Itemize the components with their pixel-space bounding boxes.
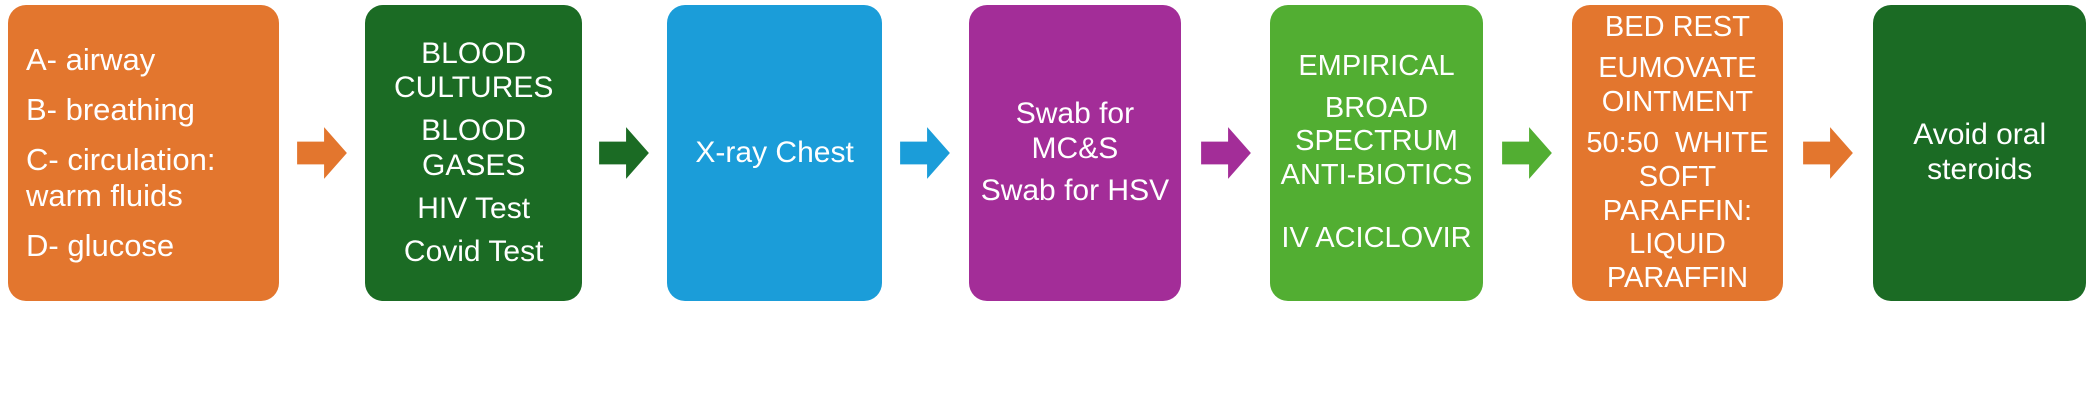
flow-arrow-right-icon	[296, 125, 348, 181]
flow-node-empirical-treatment[interactable]: EMPIRICAL BROAD SPECTRUM ANTI-BIOTICS IV…	[1270, 5, 1483, 301]
node-line: D- glucose	[26, 228, 269, 264]
node-line: SPECTRUM	[1280, 125, 1473, 159]
node-paragraph: BLOOD GASES	[375, 114, 572, 184]
node-line: C- circulation:	[26, 142, 269, 178]
node-line: BLOOD	[375, 114, 572, 149]
node-paragraph: HIV Test	[375, 192, 572, 227]
flow-node-supportive-skin-care[interactable]: BED REST EUMOVATE OINTMENT 50:50 WHITE S…	[1572, 5, 1783, 301]
node-line: B- breathing	[26, 92, 269, 128]
flow-arrow-right-icon	[598, 125, 650, 181]
node-line: OINTMENT	[1582, 86, 1773, 120]
node-paragraph: BROAD SPECTRUM ANTI-BIOTICS	[1280, 92, 1473, 193]
node-line: PARAFFIN	[1582, 262, 1773, 296]
node-line: IV ACICLOVIR	[1280, 222, 1473, 256]
node-line: EUMOVATE	[1582, 52, 1773, 86]
node-line: 50:50 WHITE	[1582, 127, 1773, 161]
node-line: BROAD	[1280, 92, 1473, 126]
flow-arrow-right-icon	[1802, 125, 1854, 181]
node-line: A- airway	[26, 42, 269, 78]
node-paragraph: B- breathing	[26, 92, 269, 128]
node-line: steroids	[1883, 153, 2076, 188]
node-paragraph: X-ray Chest	[677, 136, 872, 171]
node-line: BED REST	[1582, 11, 1773, 45]
flow-node-abcd-assessment[interactable]: A- airway B- breathing C- circulation: w…	[8, 5, 279, 301]
flow-arrow-right-icon	[899, 125, 951, 181]
flow-node-swabs[interactable]: Swab for MC&S Swab for HSV	[969, 5, 1182, 301]
flow-arrow-right-icon	[1200, 125, 1252, 181]
node-line: SOFT	[1582, 161, 1773, 195]
node-line: PARAFFIN:	[1582, 195, 1773, 229]
node-line: X-ray Chest	[677, 136, 872, 171]
node-line: Swab for HSV	[979, 174, 1172, 209]
node-line: ANTI-BIOTICS	[1280, 159, 1473, 193]
node-paragraph: Avoid oral steroids	[1883, 118, 2076, 188]
flow-node-avoid-oral-steroids[interactable]: Avoid oral steroids	[1873, 5, 2086, 301]
node-paragraph: C- circulation: warm fluids	[26, 142, 269, 214]
flow-node-imaging-xray[interactable]: X-ray Chest	[667, 5, 882, 301]
node-paragraph: Swab for MC&S	[979, 97, 1172, 167]
node-line: EMPIRICAL	[1280, 50, 1473, 84]
node-paragraph: EUMOVATE OINTMENT	[1582, 52, 1773, 119]
node-line: warm fluids	[26, 178, 269, 214]
node-line: MC&S	[979, 132, 1172, 167]
node-paragraph: BED REST	[1582, 11, 1773, 45]
node-line: BLOOD	[375, 37, 572, 72]
node-line: CULTURES	[375, 71, 572, 106]
node-paragraph: BLOOD CULTURES	[375, 37, 572, 107]
flowchart-canvas: A- airway B- breathing C- circulation: w…	[0, 0, 2094, 414]
flow-node-investigations-bloods[interactable]: BLOOD CULTURES BLOOD GASES HIV Test Covi…	[365, 5, 582, 301]
node-line: HIV Test	[375, 192, 572, 227]
node-paragraph: A- airway	[26, 42, 269, 78]
node-paragraph: D- glucose	[26, 228, 269, 264]
node-line: Covid Test	[375, 235, 572, 270]
node-line: Avoid oral	[1883, 118, 2076, 153]
node-paragraph: Swab for HSV	[979, 174, 1172, 209]
node-line: LIQUID	[1582, 228, 1773, 262]
node-paragraph: EMPIRICAL	[1280, 50, 1473, 84]
flow-arrow-right-icon	[1501, 125, 1553, 181]
node-line: GASES	[375, 149, 572, 184]
node-paragraph: IV ACICLOVIR	[1280, 222, 1473, 256]
node-paragraph: Covid Test	[375, 235, 572, 270]
node-paragraph: 50:50 WHITE SOFT PARAFFIN: LIQUID PARAFF…	[1582, 127, 1773, 295]
node-line: Swab for	[979, 97, 1172, 132]
